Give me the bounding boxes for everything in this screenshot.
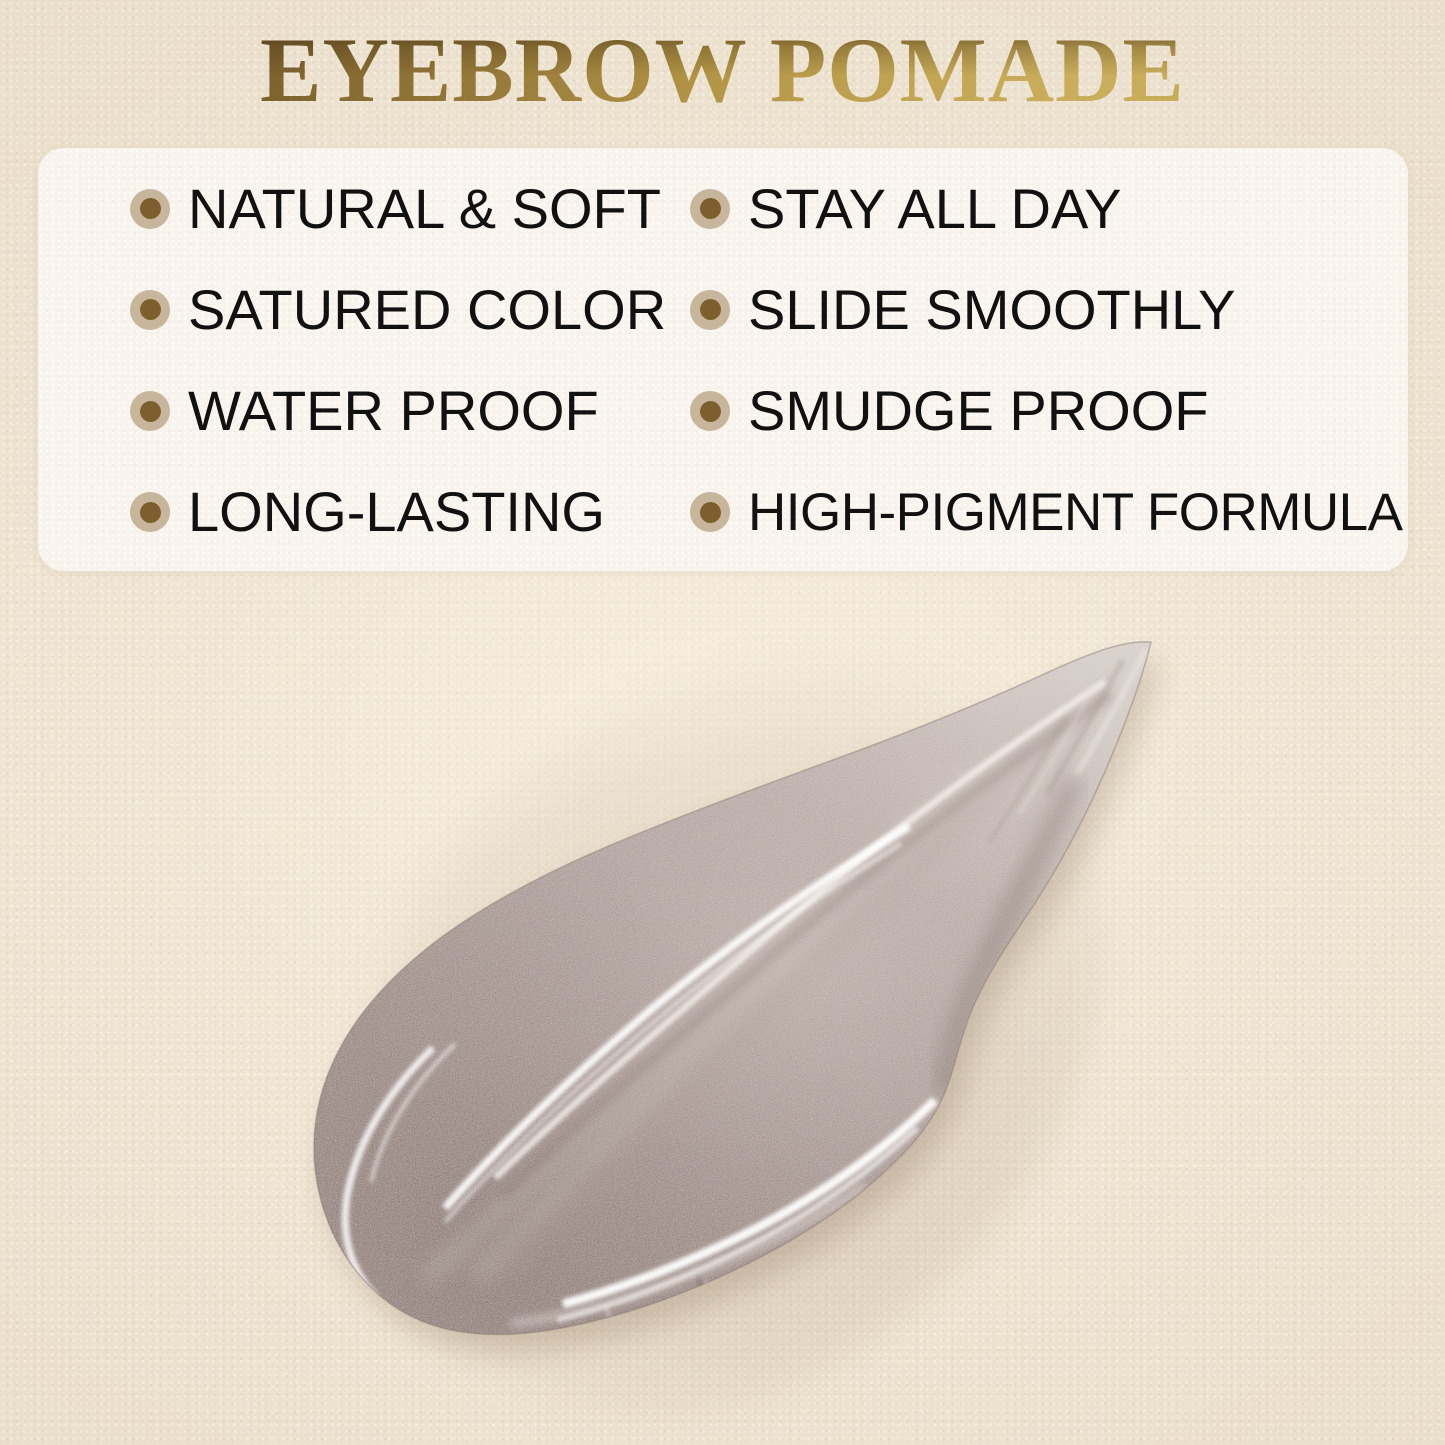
bullet-icon	[690, 492, 730, 532]
feature-label: WATER PROOF	[188, 383, 599, 439]
feature-label: SATURED COLOR	[188, 282, 666, 338]
feature-label: NATURAL & SOFT	[188, 181, 661, 237]
feature-item: HIGH-PIGMENT FORMULA	[690, 462, 1408, 563]
feature-item: SATURED COLOR	[130, 259, 690, 360]
bullet-icon	[130, 492, 170, 532]
feature-card: NATURAL & SOFT STAY ALL DAY SATURED COLO…	[38, 148, 1408, 571]
feature-item: WATER PROOF	[130, 361, 690, 462]
product-feature-graphic: EYEBROW POMADE EYEBROW POMADE NATURAL & …	[0, 0, 1445, 1445]
feature-label: SLIDE SMOOTHLY	[748, 282, 1236, 338]
product-swatch-area	[250, 600, 1250, 1430]
feature-label: HIGH-PIGMENT FORMULA	[748, 486, 1403, 539]
bullet-icon	[130, 189, 170, 229]
feature-label: LONG-LASTING	[188, 484, 605, 540]
feature-item: LONG-LASTING	[130, 462, 690, 563]
feature-item: STAY ALL DAY	[690, 158, 1408, 259]
page-title: EYEBROW POMADE	[0, 22, 1445, 119]
feature-item: NATURAL & SOFT	[130, 158, 690, 259]
feature-list: NATURAL & SOFT STAY ALL DAY SATURED COLO…	[38, 148, 1408, 571]
feature-item: SLIDE SMOOTHLY	[690, 259, 1408, 360]
bullet-icon	[130, 290, 170, 330]
eyebrow-pomade-swatch	[305, 630, 1185, 1390]
feature-label: SMUDGE PROOF	[748, 383, 1208, 439]
bullet-icon	[690, 189, 730, 229]
feature-item: SMUDGE PROOF	[690, 361, 1408, 462]
feature-label: STAY ALL DAY	[748, 181, 1122, 237]
bullet-icon	[690, 290, 730, 330]
bullet-icon	[690, 391, 730, 431]
bullet-icon	[130, 391, 170, 431]
